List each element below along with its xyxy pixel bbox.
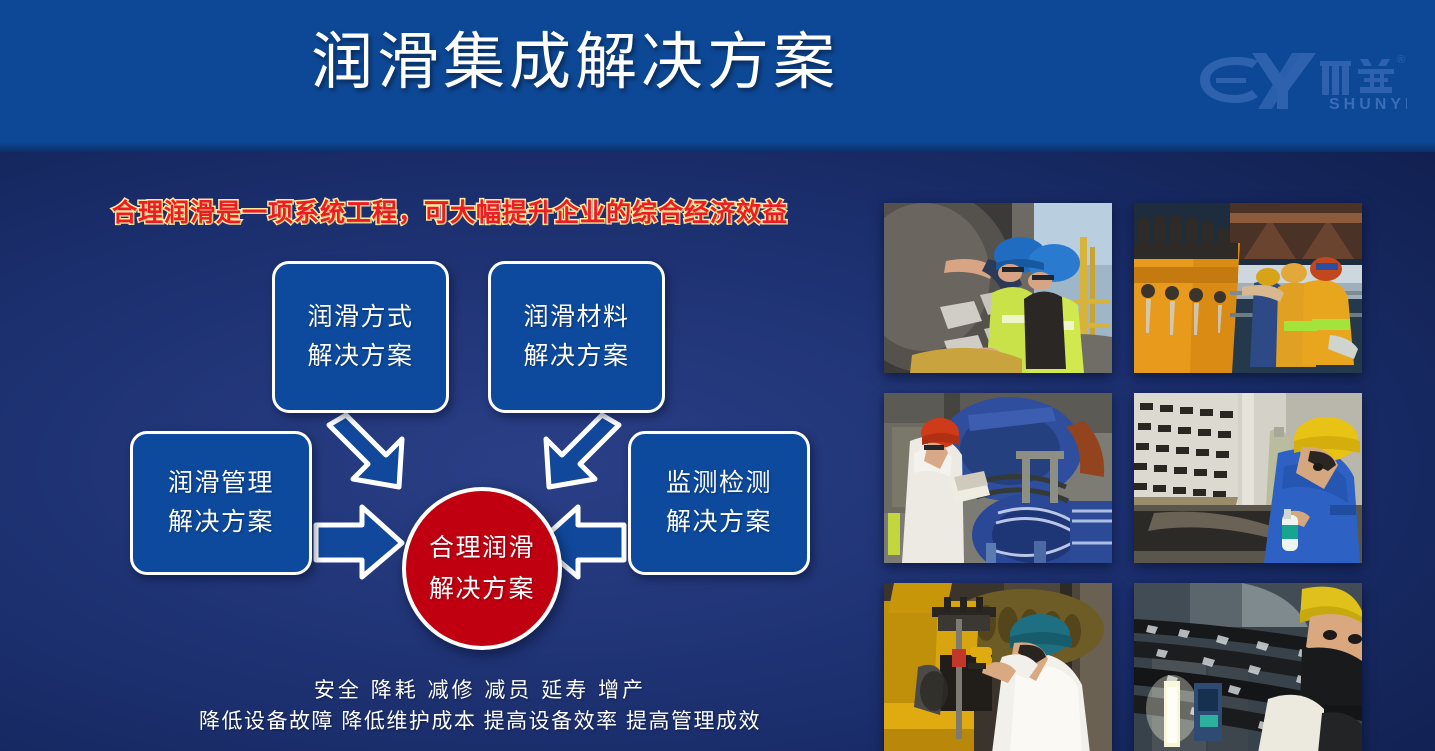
company-logo: ® SHUNYI — [1192, 47, 1407, 113]
center-label-line2: 解决方案 — [429, 577, 535, 602]
solution-diagram: 润滑方式 解决方案 润滑材料 解决方案 润滑管理 解决方案 监测检测 解决方案 … — [110, 255, 840, 675]
photo-thumbnail[interactable] — [1134, 203, 1362, 373]
benefits-line-1: 安全 降耗 减修 减员 延寿 增产 — [130, 676, 830, 706]
arrow-topright-to-center — [546, 415, 619, 487]
center-node-rational-lubrication[interactable]: 合理润滑 解决方案 — [402, 487, 562, 650]
photo-thumbnail[interactable] — [884, 203, 1112, 373]
node-label-line1: 监测检测 — [666, 471, 772, 496]
node-label-line1: 润滑方式 — [307, 305, 413, 330]
node-lubrication-material[interactable]: 润滑材料 解决方案 — [488, 261, 665, 413]
photo-3-image — [884, 393, 1112, 563]
photo-2-image — [1134, 203, 1362, 373]
benefits-text-block: 安全 降耗 减修 减员 延寿 增产 降低设备故障 降低维护成本 提高设备效率 提… — [130, 676, 830, 738]
tagline-text: 合理润滑是一项系统工程，可大幅提升企业的综合经济效益 — [112, 193, 788, 229]
node-label-line2: 解决方案 — [168, 510, 274, 535]
slide-header: 润滑集成解决方案 ® SHUNYI — [0, 0, 1435, 152]
benefits-line-2: 降低设备故障 降低维护成本 提高设备效率 提高管理成效 — [130, 706, 830, 738]
page-title: 润滑集成解决方案 — [0, 24, 1150, 102]
node-label-line2: 解决方案 — [523, 344, 629, 369]
center-label-line1: 合理润滑 — [429, 536, 535, 561]
photo-1-image — [884, 203, 1112, 373]
photo-thumbnail[interactable] — [1134, 583, 1362, 751]
logo-name-en: SHUNYI — [1329, 96, 1407, 113]
node-lubrication-method[interactable]: 润滑方式 解决方案 — [272, 261, 449, 413]
node-monitoring-inspection[interactable]: 监测检测 解决方案 — [628, 431, 810, 575]
photo-thumbnail[interactable] — [1134, 393, 1362, 563]
node-lubrication-management[interactable]: 润滑管理 解决方案 — [130, 431, 312, 575]
slide-canvas: 润滑集成解决方案 ® SHUNYI 合理润滑是一项系统工程，可大幅 — [0, 0, 1435, 751]
node-label-line1: 润滑材料 — [523, 305, 629, 330]
photo-6-image — [1134, 583, 1362, 751]
photo-thumbnail[interactable] — [884, 583, 1112, 751]
node-label-line1: 润滑管理 — [168, 471, 274, 496]
arrow-left-to-center — [316, 507, 402, 577]
node-label-line2: 解决方案 — [666, 510, 772, 535]
photo-thumbnail[interactable] — [884, 393, 1112, 563]
arrow-topleft-to-center — [329, 415, 402, 487]
logo-trademark-symbol: ® — [1397, 54, 1405, 66]
node-label-line2: 解决方案 — [307, 344, 413, 369]
photo-gallery — [884, 203, 1364, 751]
photo-5-image — [884, 583, 1112, 751]
photo-4-image — [1134, 393, 1362, 563]
